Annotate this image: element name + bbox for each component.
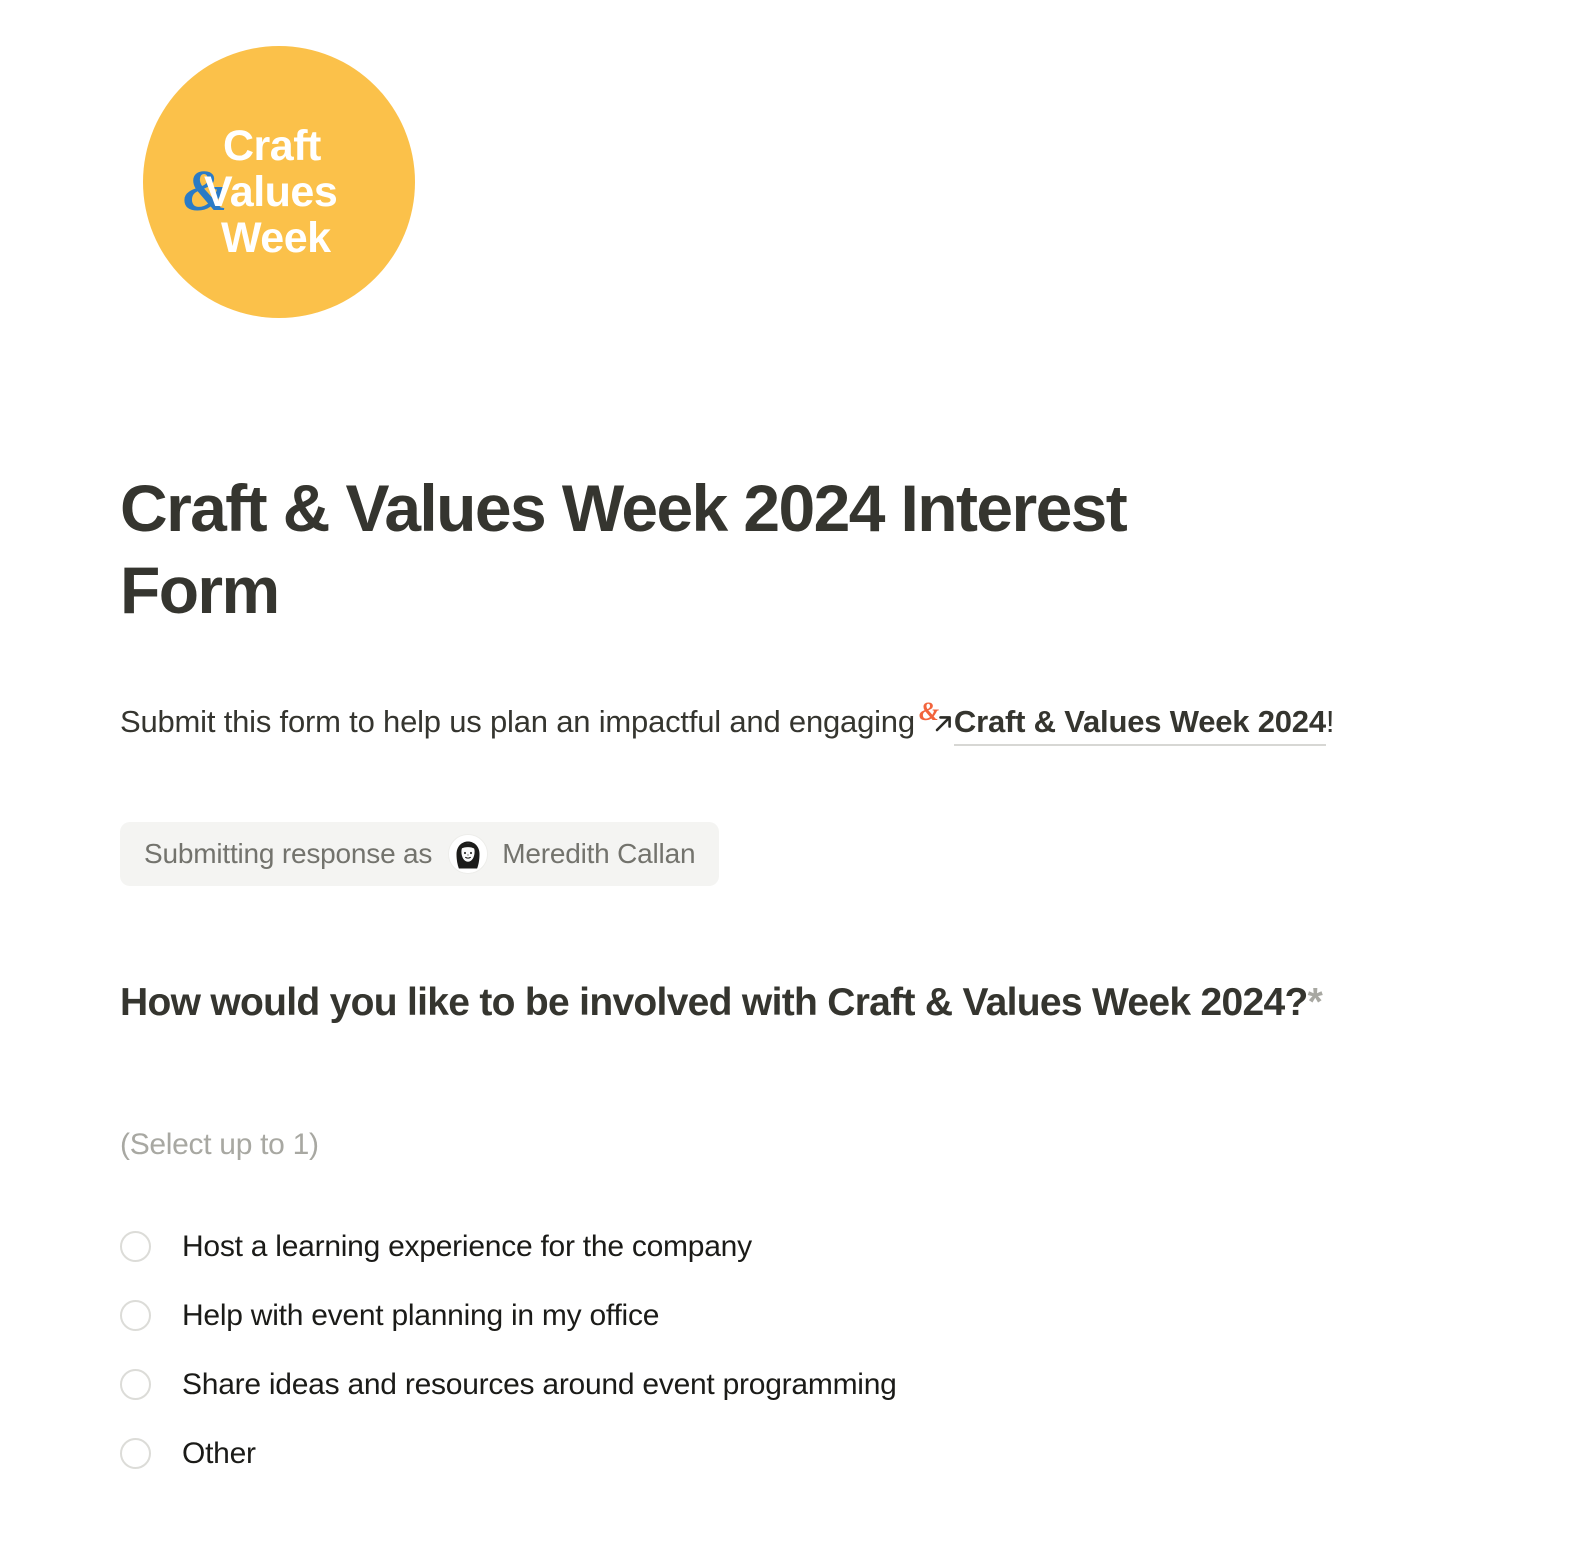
logo-line-values: Values xyxy=(204,171,337,214)
description-text: Submit this form to help us plan an impa… xyxy=(120,704,915,739)
arrow-up-right-icon xyxy=(934,714,953,733)
option-label-2: Share ideas and resources around event p… xyxy=(182,1368,897,1402)
option-row-1[interactable]: Help with event planning in my office xyxy=(120,1281,1320,1350)
radio-icon-1[interactable] xyxy=(120,1300,151,1331)
form-page: Craft & Values Week Craft & Values Week … xyxy=(0,0,1586,1548)
question-options: Host a learning experience for the compa… xyxy=(120,1212,1320,1488)
radio-icon-2[interactable] xyxy=(120,1369,151,1400)
submitting-response-as: Submitting response as Meredith Callan xyxy=(120,822,719,886)
description-text-tail: ! xyxy=(1326,704,1334,739)
option-label-3: Other xyxy=(182,1437,256,1471)
question-hint: (Select up to 1) xyxy=(120,1128,319,1162)
page-title: Craft & Values Week 2024 Interest Form xyxy=(120,468,1300,632)
option-label-1: Help with event planning in my office xyxy=(182,1299,659,1333)
question-label: How would you like to be involved with C… xyxy=(120,977,1460,1029)
craft-values-week-logo: Craft & Values Week xyxy=(143,46,415,318)
radio-icon-3[interactable] xyxy=(120,1438,151,1469)
radio-icon-0[interactable] xyxy=(120,1231,151,1262)
form-description: Submit this form to help us plan an impa… xyxy=(120,695,1380,748)
logo-circle: Craft & Values Week xyxy=(143,46,415,318)
submitting-response-label: Submitting response as xyxy=(144,838,432,870)
craft-values-week-link[interactable]: Craft & Values Week 2024 xyxy=(954,704,1326,746)
option-row-0[interactable]: Host a learning experience for the compa… xyxy=(120,1212,1320,1281)
option-label-0: Host a learning experience for the compa… xyxy=(182,1230,752,1264)
required-marker: * xyxy=(1308,981,1322,1024)
external-link-icon: & xyxy=(919,708,953,734)
option-row-3[interactable]: Other xyxy=(120,1419,1320,1488)
question-text: How would you like to be involved with C… xyxy=(120,981,1308,1024)
submitting-response-name: Meredith Callan xyxy=(502,838,695,870)
avatar xyxy=(448,834,488,874)
avatar-portrait-icon xyxy=(449,835,487,873)
logo-wordmark: Craft & Values Week xyxy=(143,46,415,318)
logo-line-craft: Craft xyxy=(223,125,321,168)
logo-line-week: Week xyxy=(221,217,331,260)
option-row-2[interactable]: Share ideas and resources around event p… xyxy=(120,1350,1320,1419)
